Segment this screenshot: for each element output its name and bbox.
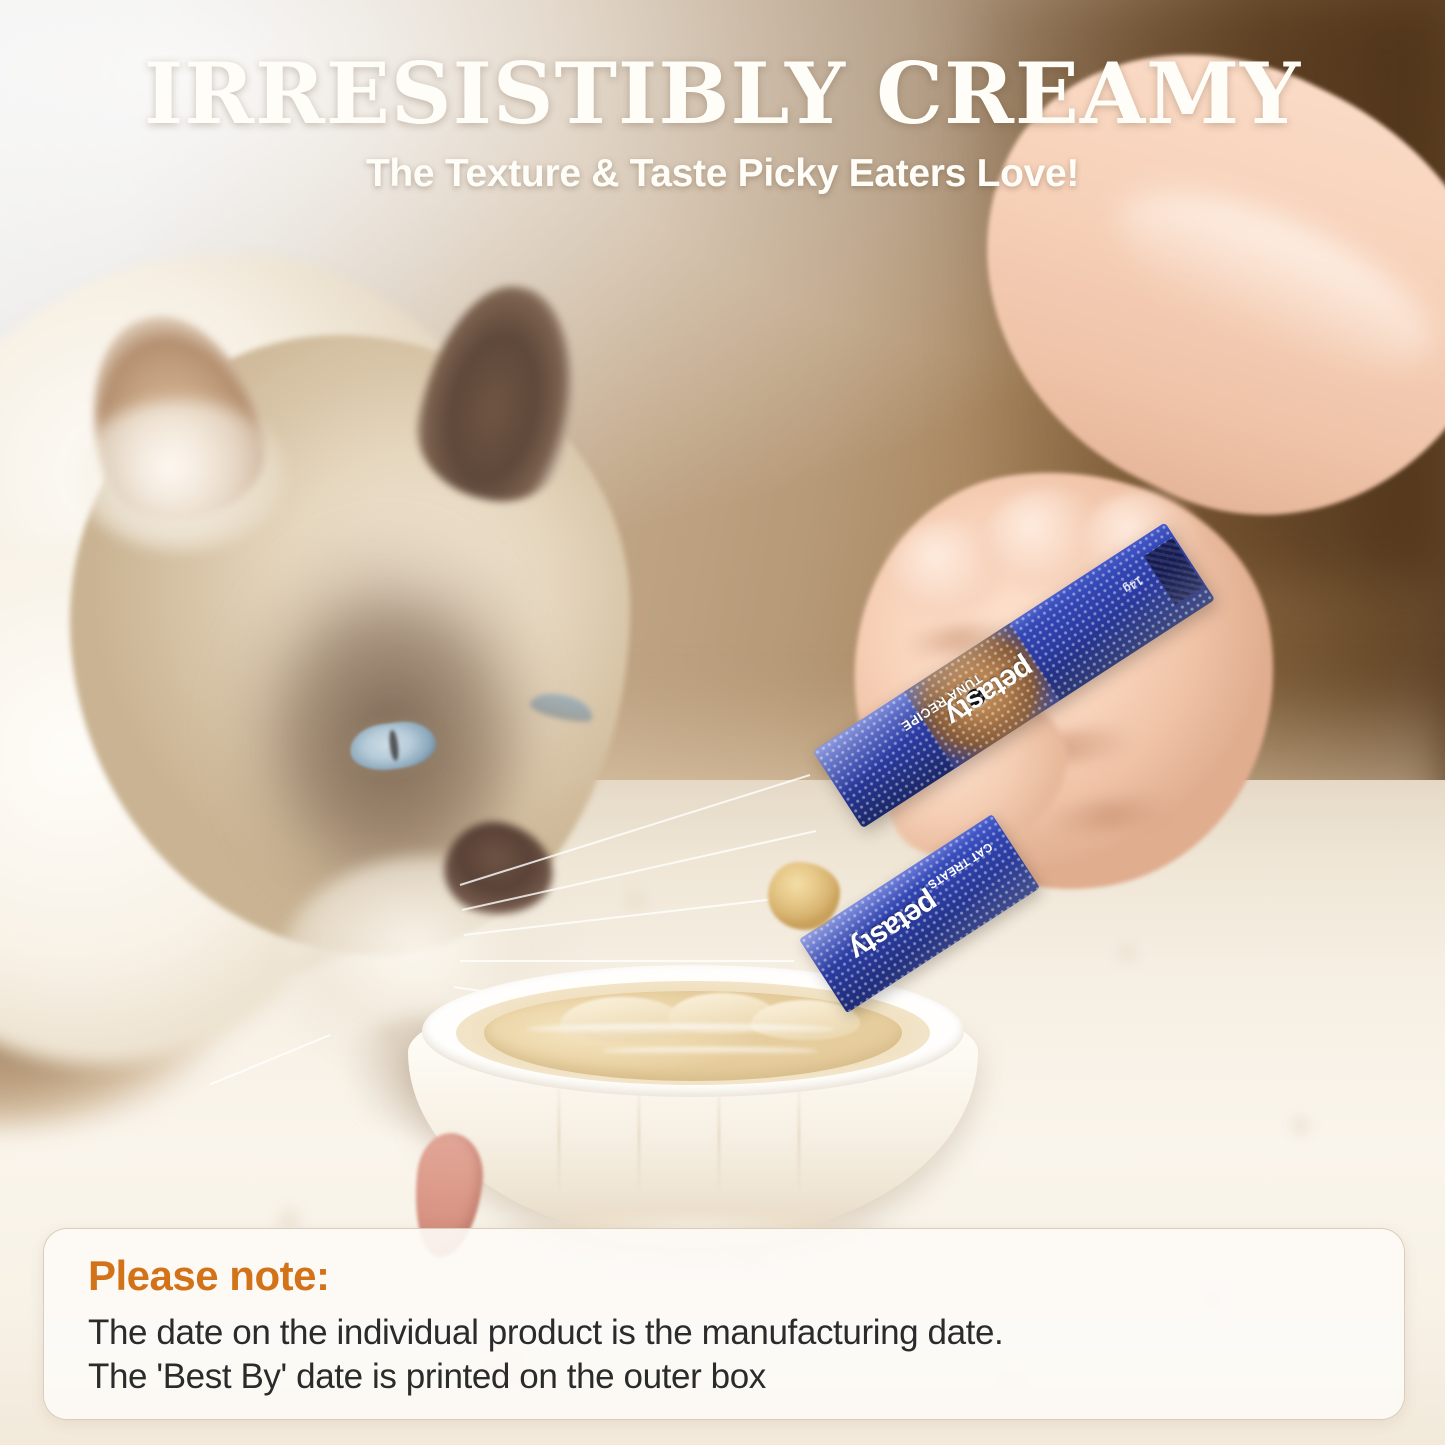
page-title: IRRESISTIBLY CREAMY <box>0 52 1445 136</box>
note-line-2: The 'Best By' date is printed on the out… <box>88 1355 1404 1399</box>
bowl-flute <box>558 1075 560 1195</box>
bowl-flute <box>798 1075 800 1195</box>
note-title: Please note: <box>88 1255 1404 1297</box>
note-line-1: The date on the individual product is th… <box>88 1311 1404 1355</box>
cream-highlight <box>601 1047 818 1055</box>
sachet-foil-sheen <box>813 522 1215 828</box>
cat-ear-fluff <box>75 400 285 550</box>
cat-food-bowl <box>408 965 978 1255</box>
please-note-card: Please note: The date on the individual … <box>43 1228 1405 1420</box>
page-subtitle: The Texture & Taste Picky Eaters Love! <box>0 152 1445 196</box>
treat-sachet: petasty TUNA RECIPE 14g petasty CAT TREA… <box>770 515 1200 915</box>
sachet-front-panel: petasty TUNA RECIPE 14g <box>813 522 1215 828</box>
promo-banner: petasty TUNA RECIPE 14g petasty CAT TREA… <box>0 0 1445 1445</box>
cream-swirl <box>560 997 685 1044</box>
creamy-treat <box>484 991 901 1080</box>
